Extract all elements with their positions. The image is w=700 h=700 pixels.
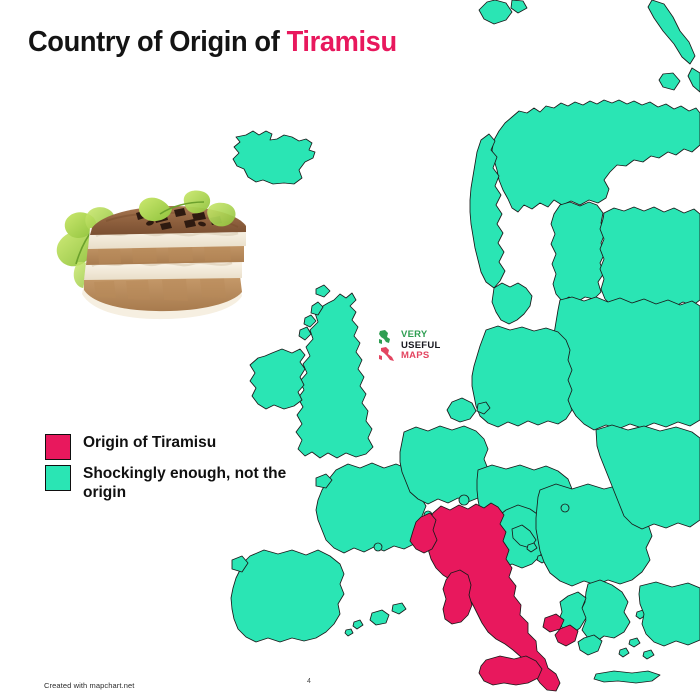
legend-item-not-origin: Shockingly enough, not the origin xyxy=(45,464,295,502)
legend-label-origin: Origin of Tiramisu xyxy=(83,433,216,452)
legend-swatch-origin xyxy=(45,434,71,460)
page-title-prefix: Country of Origin of xyxy=(28,26,287,58)
legend-label-not-origin: Shockingly enough, not the origin xyxy=(83,464,288,502)
legend-swatch-not-origin xyxy=(45,465,71,491)
map-infographic: Country of Origin of Tiramisu xyxy=(0,0,700,700)
page-title-highlight: Tiramisu xyxy=(287,26,397,58)
watermark-text: VERY USEFUL MAPS xyxy=(401,330,441,361)
europe-map xyxy=(0,0,700,700)
page-title: Country of Origin of Tiramisu xyxy=(28,26,397,59)
very-useful-maps-logo-icon xyxy=(376,330,398,362)
legend-item-origin: Origin of Tiramisu xyxy=(45,433,295,460)
tiramisu-photo xyxy=(42,188,270,328)
watermark-line-maps: MAPS xyxy=(401,351,441,361)
map-scale-mark: 4 xyxy=(307,678,311,685)
mapchart-credit: Created with mapchart.net xyxy=(44,681,134,690)
very-useful-maps-watermark: VERY USEFUL MAPS xyxy=(376,330,441,362)
map-legend: Origin of Tiramisu Shockingly enough, no… xyxy=(45,433,295,506)
